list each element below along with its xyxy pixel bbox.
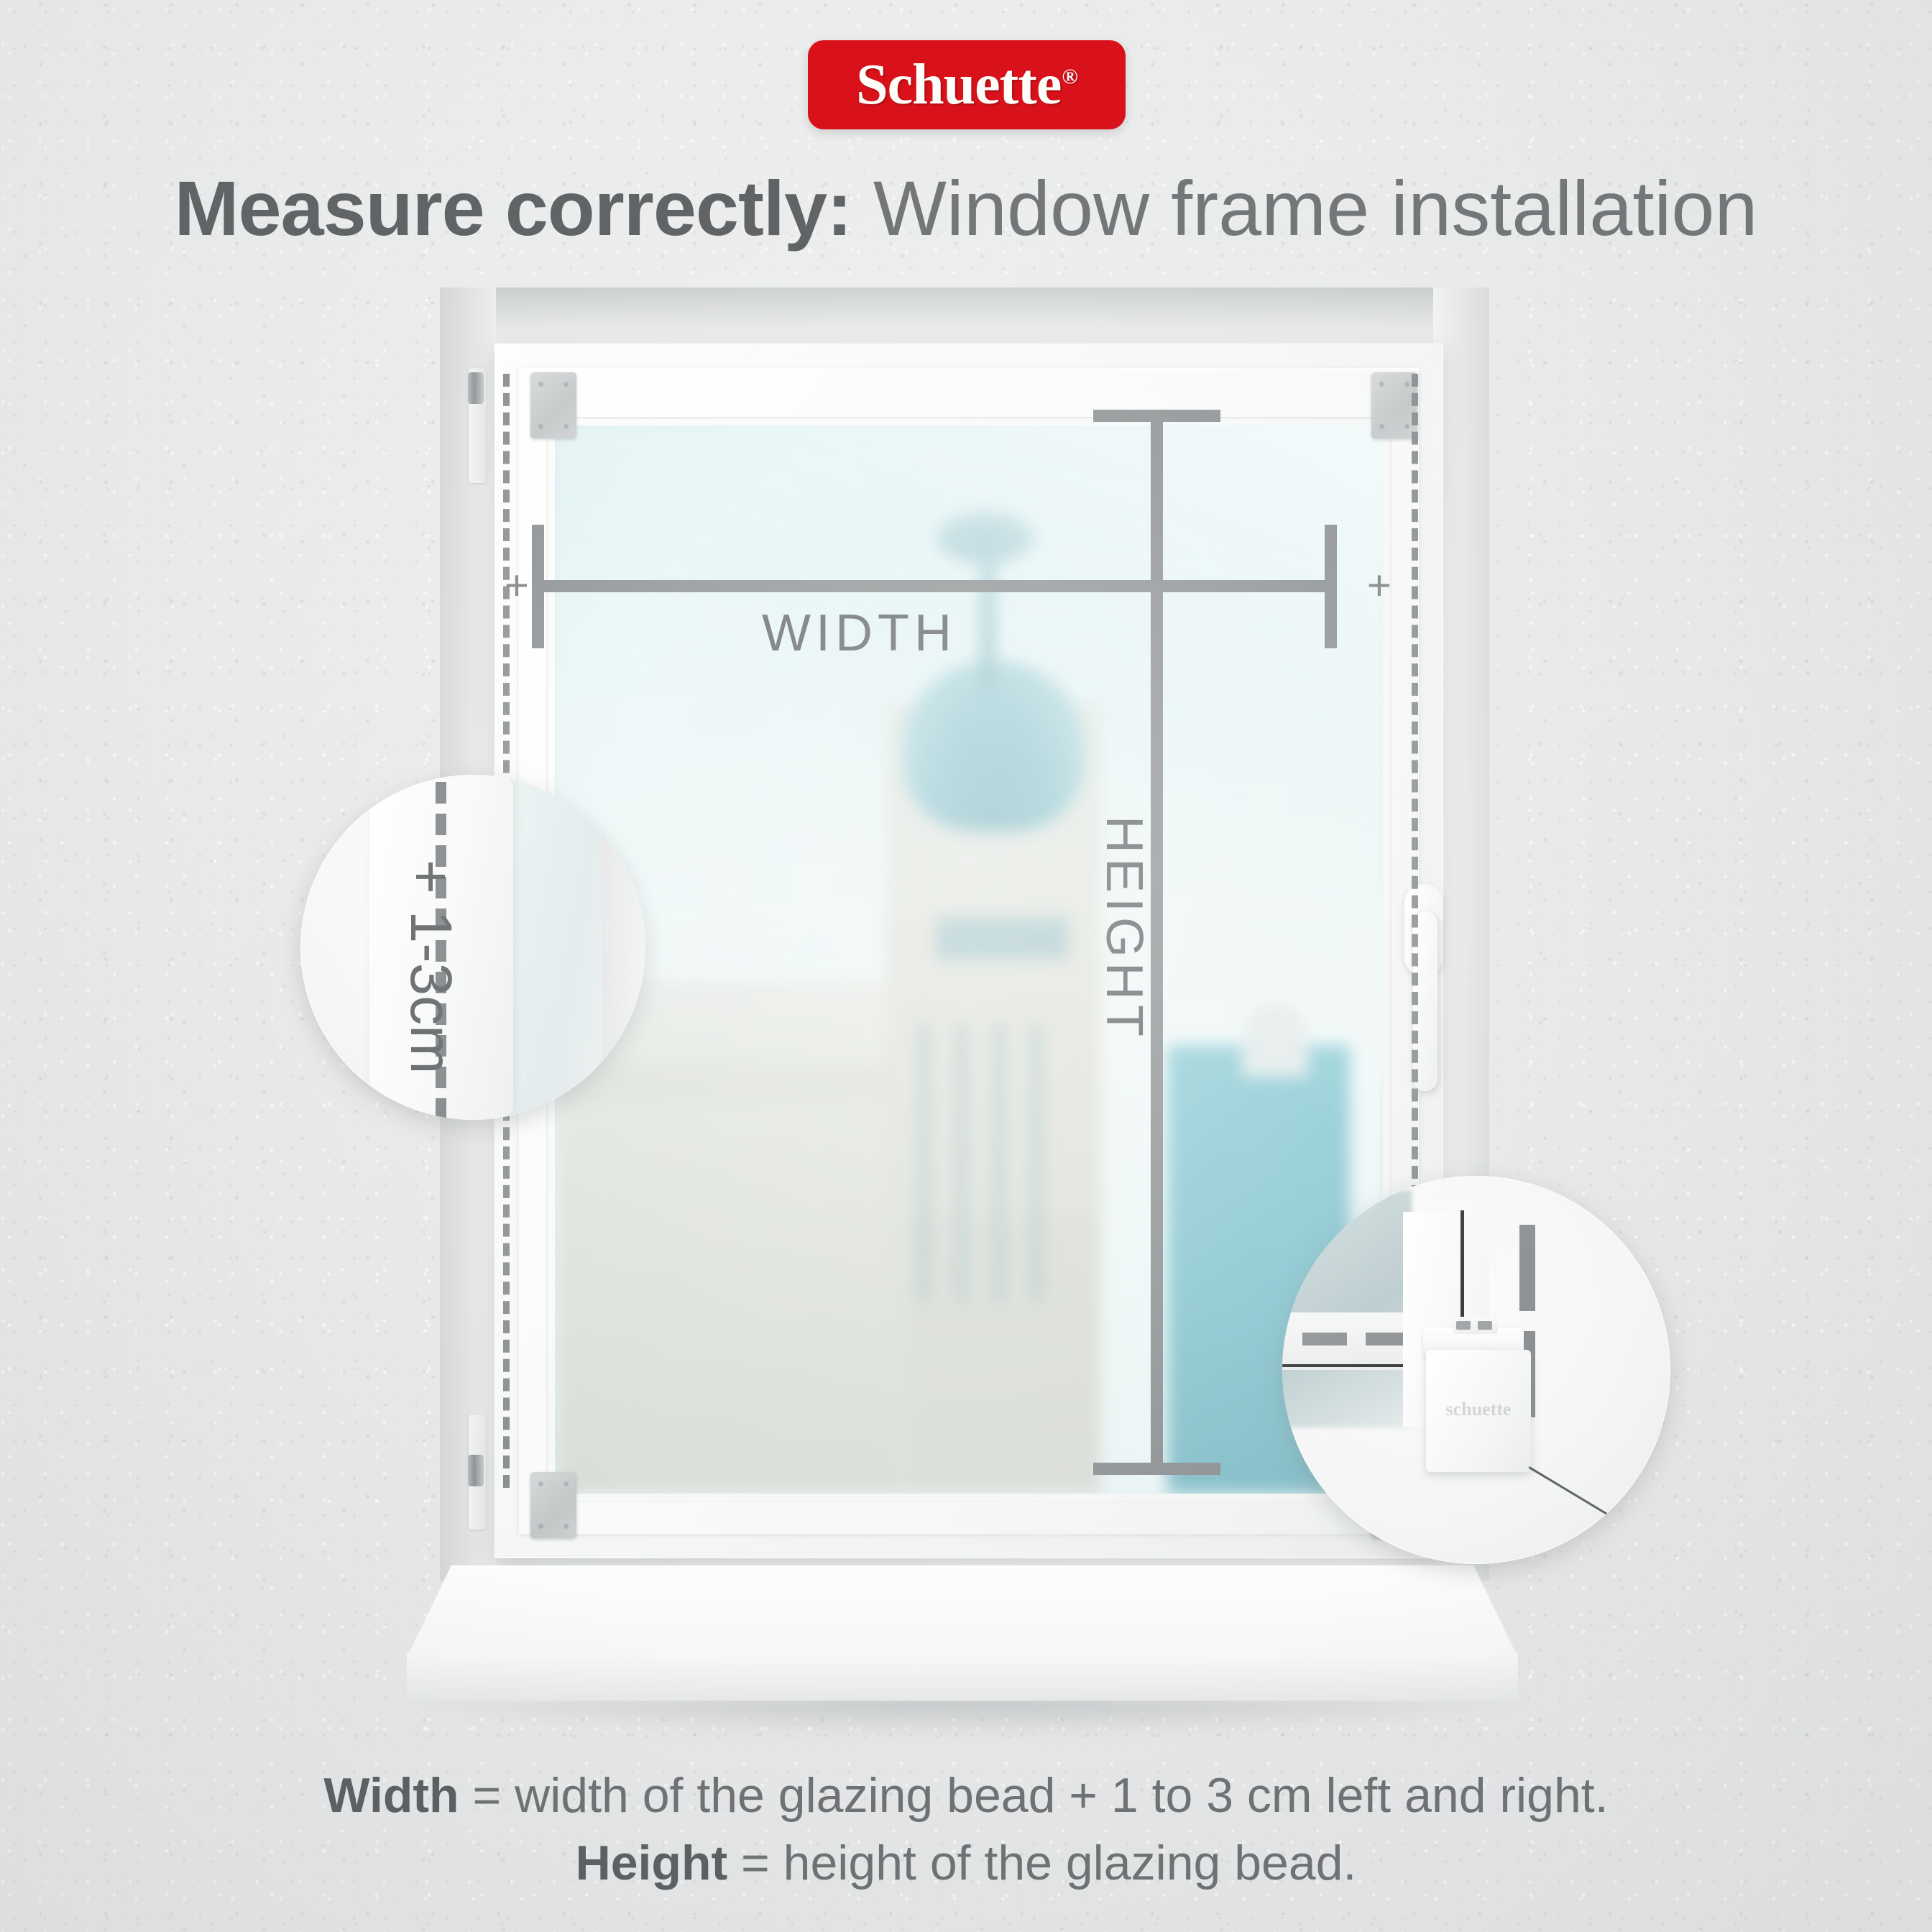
magnifier-right-glass [1282, 1190, 1412, 1427]
width-cap-right [1325, 525, 1337, 648]
width-cap-left [532, 525, 544, 648]
magnifier-right-leader-line [1528, 1466, 1670, 1553]
brand-logo[interactable]: Schuette® [808, 40, 1126, 129]
page-title-strong: Measure correctly: [175, 165, 852, 252]
window-illustration: + + WIDTH HEIGHT + 1-3cm schuette [0, 0, 1932, 1932]
magnifier-tolerance-detail: + 1-3cm [300, 775, 645, 1120]
plus-mark-right: + [1367, 565, 1391, 607]
sill-shadow [402, 1698, 1524, 1736]
magnifier-right-dash-c [1519, 1225, 1535, 1311]
registered-trademark-icon: ® [1062, 65, 1077, 88]
instructions-footer: Width = width of the glazing bead + 1 to… [0, 1762, 1932, 1897]
magnifier-left-reveal [602, 775, 645, 1120]
page-title-light: Window frame installation [852, 165, 1758, 252]
width-measure-bar [532, 580, 1337, 592]
page-title: Measure correctly: Window frame installa… [0, 167, 1932, 251]
footer-height-rest: = height of the glazing bead. [727, 1836, 1356, 1890]
magnifier-bracket-detail: schuette [1282, 1176, 1670, 1564]
product-brand-mark: schuette [1433, 1399, 1524, 1420]
footer-line-width: Width = width of the glazing bead + 1 to… [0, 1762, 1932, 1830]
footer-width-key: Width [323, 1768, 459, 1823]
window-sill-face [407, 1653, 1518, 1701]
footer-width-rest: = width of the glazing bead + 1 to 3 cm … [459, 1768, 1609, 1823]
brand-logo-word: Schuette [856, 53, 1061, 116]
reveal-top-soffit [440, 287, 1489, 345]
width-label: WIDTH [762, 604, 957, 663]
footer-line-height: Height = height of the glazing bead. [0, 1830, 1932, 1897]
blind-clip-teeth [1453, 1317, 1498, 1334]
magnifier-right-vertical-line [1460, 1210, 1464, 1325]
height-cap-bottom [1093, 1463, 1220, 1475]
window-sill-top [407, 1565, 1518, 1657]
height-cap-top [1093, 410, 1220, 422]
hinge-top [468, 372, 484, 404]
mounting-bracket-top-left [530, 372, 576, 438]
plus-mark-left: + [505, 565, 529, 607]
tolerance-label: + 1-3cm [397, 860, 464, 1075]
hinge-bottom [468, 1455, 484, 1486]
height-label: HEIGHT [1095, 816, 1154, 1041]
footer-height-key: Height [576, 1836, 728, 1890]
mounting-bracket-top-right [1371, 372, 1417, 438]
magnifier-right-dash-a [1302, 1333, 1347, 1345]
mounting-bracket-bottom-left [530, 1472, 576, 1538]
brand-logo-text: Schuette® [856, 56, 1077, 114]
